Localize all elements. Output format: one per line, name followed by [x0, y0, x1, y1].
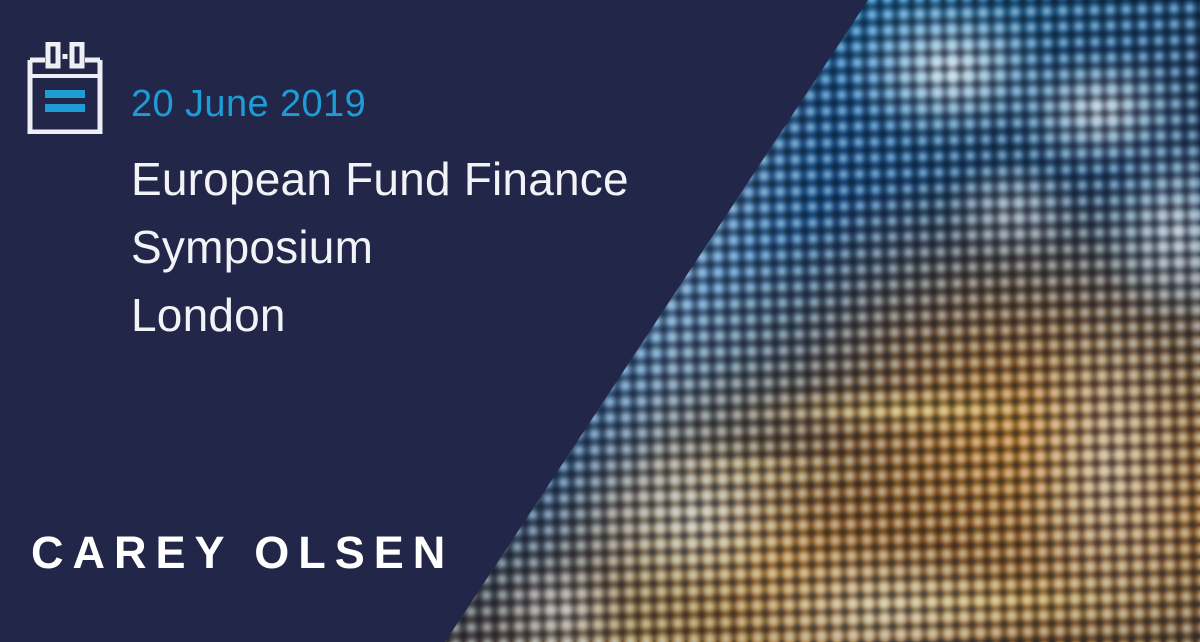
event-title-line-2: Symposium: [131, 213, 691, 281]
calendar-icon: [26, 42, 104, 134]
event-title: European Fund Finance Symposium London: [131, 145, 691, 349]
event-title-line-1: European Fund Finance: [131, 145, 691, 213]
event-date: 20 June 2019: [131, 85, 366, 125]
event-title-line-3: London: [131, 281, 691, 349]
carey-olsen-logo: CAREY OLSEN: [31, 530, 454, 575]
event-banner: 20 June 2019 European Fund Finance Sympo…: [0, 0, 1200, 642]
banner-content: 20 June 2019 European Fund Finance Sympo…: [0, 0, 700, 642]
